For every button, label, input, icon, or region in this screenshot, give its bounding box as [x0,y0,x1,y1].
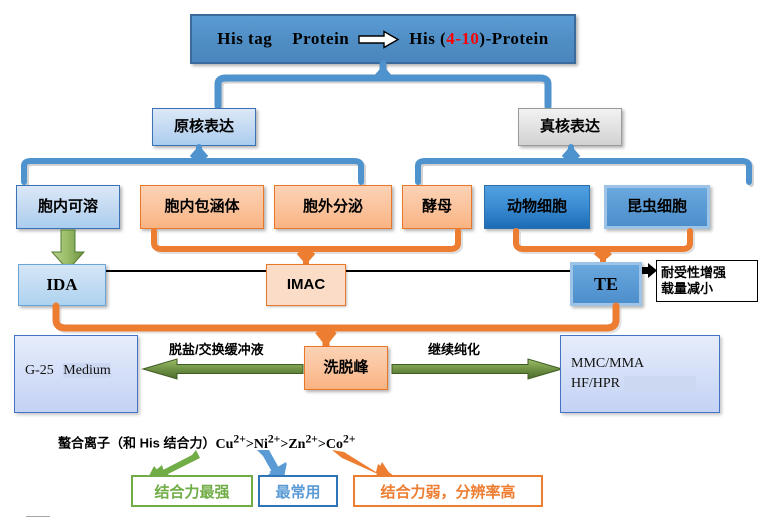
box-extracellular-secretion-label: 胞外分泌 [303,198,363,215]
box-elution-peak-label: 洗脱峰 [323,359,368,376]
panel-g25-medium: G-25 Medium [14,335,138,413]
right-arrow-icon [359,31,399,48]
chelating-ions-prefix: 螯合离子（和 His 结合力） [58,436,215,451]
box-ida: IDA [18,264,106,306]
box-strongest-binding: 结合力最强 [131,475,253,507]
box-yeast-label: 酵母 [422,198,452,215]
header-result-prefix: His ( [409,29,446,49]
diagram-canvas: His tag Protein His (4-10)-Protein 原核表达 … [0,0,776,524]
box-prokaryotic-label: 原核表达 [174,118,234,135]
box-imac: IMAC [266,264,346,306]
box-animal-cell: 动物细胞 [484,185,590,229]
box-inclusion-body-label: 胞内包涵体 [164,198,239,215]
header-result-suffix: )-Protein [479,29,548,49]
label-desalt: 脱盐/交换缓冲液 [169,339,264,358]
box-eukaryotic-expression: 真核表达 [518,108,622,146]
header-box: His tag Protein His (4-10)-Protein [190,14,576,64]
bracket-header-to-expression [190,62,620,110]
curly-bracket-icon [412,146,760,186]
arrow-elution-to-final [392,358,562,380]
box-inclusion-body: 胞内包涵体 [140,185,264,229]
box-insect-cell: 昆虫细胞 [604,185,710,229]
box-eukaryotic-label: 真核表达 [540,118,600,135]
box-te: TE [570,262,642,306]
final-resin-line1: MMC/MMA [571,356,644,372]
box-imac-label: IMAC [287,276,325,293]
box-insect-cell-label: 昆虫细胞 [627,198,687,215]
arrow-elution-to-g25 [143,358,303,380]
box-extracellular-secretion: 胞外分泌 [274,185,392,229]
box-strongest-binding-label: 结合力最强 [154,481,229,502]
header-protein: Protein [292,29,349,49]
box-intracellular-soluble-label: 胞内可溶 [38,198,98,215]
note-te-line2: 载量减小 [661,281,753,297]
box-te-label: TE [594,274,618,295]
box-animal-cell-label: 动物细胞 [507,198,567,215]
box-weak-binding-high-resolution: 结合力弱，分辨率高 [353,475,543,507]
panel-final-resins: MMC/MMA HF/HPR [560,335,720,413]
right-arrow-icon [392,358,562,380]
label-continue-purification: 继续纯化 [428,339,480,358]
box-ida-label: IDA [46,275,77,295]
bracket-eukaryotic-to-sources [412,146,760,186]
box-most-used: 最常用 [258,475,338,507]
header-result-number: 4-10 [446,29,479,49]
bracket-prokaryotic-to-sources [18,146,378,186]
final-resin-highlight [624,376,696,392]
box-most-used-label: 最常用 [275,481,320,502]
box-elution-peak: 洗脱峰 [304,346,388,390]
g25-medium-label: Medium [63,363,110,378]
header-his-tag: His tag [217,29,272,49]
label-chelating-ions: 螯合离子（和 His 结合力）Cu2+>Ni2+>Zn2+>Co2+ [58,432,356,453]
final-resin-line2: HF/HPR [571,376,620,391]
box-yeast: 酵母 [402,185,472,229]
g25-label: G-25 [25,363,54,378]
box-intracellular-soluble: 胞内可溶 [16,185,120,229]
curly-bracket-icon [190,62,620,110]
box-prokaryotic-expression: 原核表达 [152,108,256,146]
box-weak-binding-label: 结合力弱，分辨率高 [380,481,515,502]
left-arrow-icon [143,358,303,380]
note-te-properties: 耐受性增强 载量减小 [656,260,758,302]
note-te-line1: 耐受性增强 [661,265,753,281]
curly-bracket-icon [18,146,378,186]
decorative-line [26,516,50,517]
